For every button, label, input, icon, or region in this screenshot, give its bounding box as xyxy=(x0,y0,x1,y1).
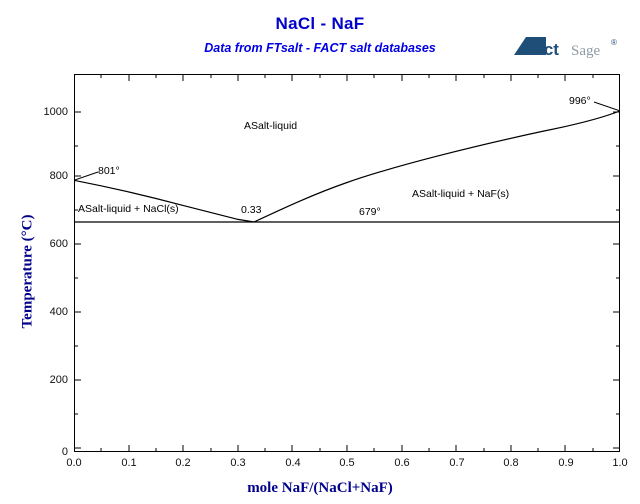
region-label-liquid: ASalt-liquid xyxy=(244,120,297,132)
x-tick-label-9: 0.9 xyxy=(546,457,586,469)
x-axis-ticks-top xyxy=(74,74,620,81)
y-axis-ticks xyxy=(74,112,81,448)
x-tick-label-6: 0.6 xyxy=(382,457,422,469)
annotation-eutectic-temperature: 679° xyxy=(359,206,381,218)
page-title: NaCl - NaF xyxy=(0,14,640,34)
logo-registered-icon: ® xyxy=(611,38,617,47)
y-axis-title: Temperature (°C) xyxy=(20,152,37,392)
logo-fact-text: Fact xyxy=(524,40,559,59)
plot-canvas xyxy=(74,74,620,452)
x-tick-label-7: 0.7 xyxy=(437,457,477,469)
annotation-naf-melting-point: 996° xyxy=(569,95,591,107)
nacl-liquidus-curve xyxy=(74,180,254,222)
y-axis-ticks-right xyxy=(613,112,620,448)
x-tick-label-4: 0.4 xyxy=(273,457,313,469)
annotation-eutectic-composition: 0.33 xyxy=(241,204,261,216)
region-label-nacl-solid: ASalt-liquid + NaCl(s) xyxy=(78,203,179,215)
x-tick-label-0: 0.0 xyxy=(54,457,94,469)
leader-line-996 xyxy=(594,102,620,111)
x-tick-label-5: 0.5 xyxy=(327,457,367,469)
region-label-naf-solid: ASalt-liquid + NaF(s) xyxy=(412,188,509,200)
naf-liquidus-curve xyxy=(254,111,620,222)
factsage-logo-mark: Fact Sage ® xyxy=(512,33,624,63)
factsage-logo: Fact Sage ® xyxy=(512,33,624,63)
x-tick-label-8: 0.8 xyxy=(491,457,531,469)
x-axis-ticks xyxy=(74,445,620,452)
y-tick-label-1000: 1000 xyxy=(22,106,68,118)
x-tick-label-3: 0.3 xyxy=(218,457,258,469)
logo-sage-text: Sage xyxy=(571,43,601,59)
x-tick-label-1: 0.1 xyxy=(109,457,149,469)
x-tick-label-10: 1.0 xyxy=(600,457,640,469)
phase-diagram-page: NaCl - NaF Data from FTsalt - FACT salt … xyxy=(0,0,640,504)
x-tick-label-2: 0.2 xyxy=(163,457,203,469)
x-axis-title: mole NaF/(NaCl+NaF) xyxy=(0,480,640,497)
annotation-nacl-melting-point: 801° xyxy=(98,165,120,177)
